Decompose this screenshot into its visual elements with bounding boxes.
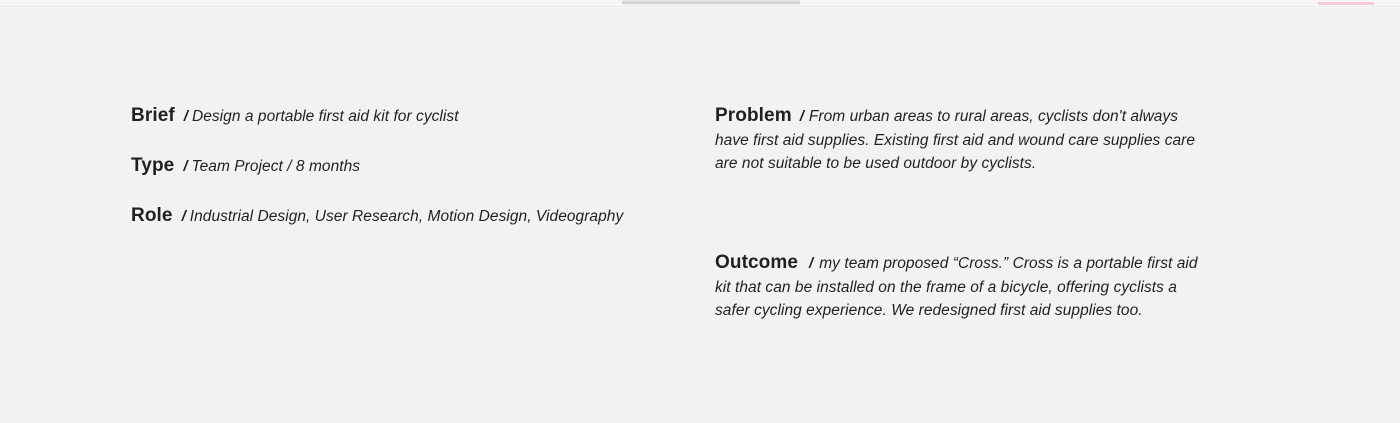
- type-separator: /: [174, 158, 191, 175]
- problem-label: Problem: [715, 105, 792, 126]
- info-row-type: Type/Team Project / 8 months: [131, 154, 671, 178]
- outcome-block: Outcome/my team proposed “Cross.” Cross …: [715, 251, 1215, 323]
- type-value: Team Project / 8 months: [192, 158, 361, 175]
- top-edge-artifact-band: [0, 0, 1400, 8]
- problem-separator: /: [792, 108, 809, 125]
- info-row-role: Role/Industrial Design, User Research, M…: [131, 204, 671, 228]
- top-edge-pink-sliver: [1318, 2, 1374, 5]
- role-value: Industrial Design, User Research, Motion…: [190, 208, 624, 225]
- brief-label: Brief: [131, 105, 175, 126]
- project-overview-page: Brief/Design a portable first aid kit fo…: [0, 0, 1400, 423]
- top-edge-grey-sliver: [622, 0, 800, 5]
- project-meta-column: Brief/Design a portable first aid kit fo…: [131, 104, 671, 227]
- role-separator: /: [173, 208, 190, 225]
- brief-value: Design a portable first aid kit for cycl…: [192, 108, 459, 125]
- role-label: Role: [131, 205, 173, 226]
- type-label: Type: [131, 155, 174, 176]
- outcome-label: Outcome: [715, 252, 798, 273]
- top-edge-hairline: [0, 6, 1400, 7]
- brief-separator: /: [175, 108, 192, 125]
- info-row-brief: Brief/Design a portable first aid kit fo…: [131, 104, 671, 128]
- outcome-separator: /: [798, 255, 819, 272]
- problem-block: Problem/From urban areas to rural areas,…: [715, 104, 1215, 176]
